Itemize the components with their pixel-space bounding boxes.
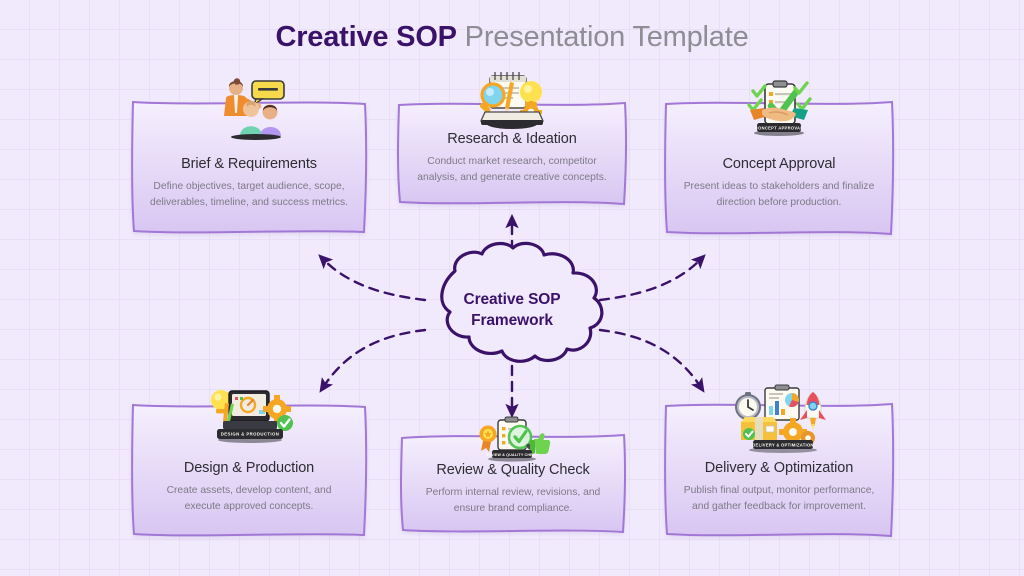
- center-label-line1: Creative SOP: [412, 290, 612, 311]
- center-label: Creative SOP Framework: [412, 290, 612, 332]
- center-label-line2: Framework: [412, 311, 612, 332]
- slide-canvas: Creative SOP Presentation Template: [0, 0, 1024, 576]
- center-cloud-shape[interactable]: [0, 0, 1024, 576]
